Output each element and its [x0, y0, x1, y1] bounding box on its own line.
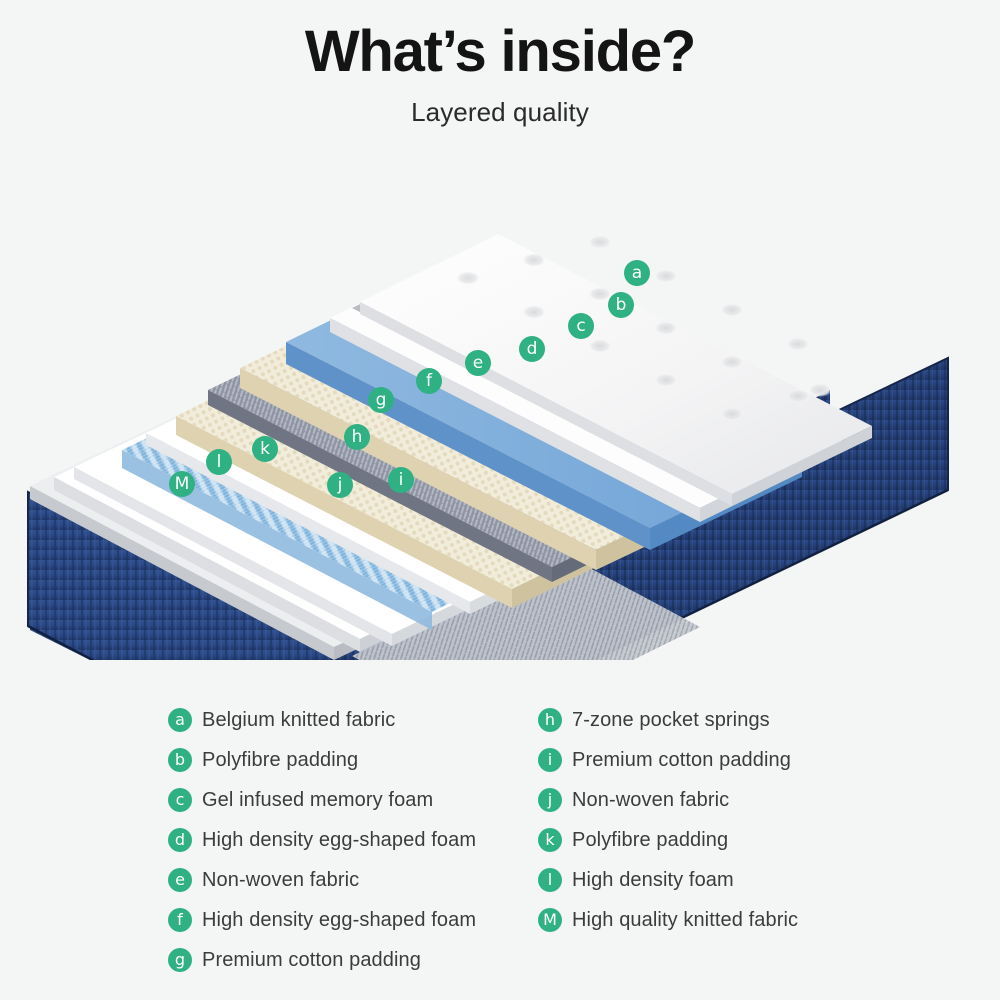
diagram-marker-k[interactable]: k: [252, 436, 278, 462]
diagram-marker-g[interactable]: g: [368, 387, 394, 413]
legend-badge-e: e: [168, 868, 192, 892]
legend-badge-c: c: [168, 788, 192, 812]
legend-item-M[interactable]: MHigh quality knitted fabric: [538, 900, 938, 940]
legend-label-i: Premium cotton padding: [572, 749, 791, 772]
legend-item-j[interactable]: jNon-woven fabric: [538, 780, 938, 820]
legend-label-M: High quality knitted fabric: [572, 909, 798, 932]
legend-label-g: Premium cotton padding: [202, 949, 421, 972]
legend-item-k[interactable]: kPolyfibre padding: [538, 820, 938, 860]
diagram-marker-M[interactable]: M: [169, 471, 195, 497]
legend-column-left: aBelgium knitted fabricbPolyfibre paddin…: [168, 700, 528, 980]
legend-label-f: High density egg-shaped foam: [202, 909, 476, 932]
diagram-marker-e[interactable]: e: [465, 350, 491, 376]
legend-badge-a: a: [168, 708, 192, 732]
diagram-marker-i[interactable]: i: [388, 467, 414, 493]
mattress-cutaway-illustration: abcdefghijklM: [0, 190, 1000, 660]
legend-badge-k: k: [538, 828, 562, 852]
legend-label-b: Polyfibre padding: [202, 749, 358, 772]
legend-item-e[interactable]: eNon-woven fabric: [168, 860, 528, 900]
legend-item-h[interactable]: h7-zone pocket springs: [538, 700, 938, 740]
legend-badge-i: i: [538, 748, 562, 772]
legend-badge-l: l: [538, 868, 562, 892]
legend-item-g[interactable]: gPremium cotton padding: [168, 940, 528, 980]
legend-badge-f: f: [168, 908, 192, 932]
legend-item-f[interactable]: fHigh density egg-shaped foam: [168, 900, 528, 940]
diagram-marker-b[interactable]: b: [608, 292, 634, 318]
legend-label-h: 7-zone pocket springs: [572, 709, 770, 732]
diagram-marker-c[interactable]: c: [568, 313, 594, 339]
diagram-marker-f[interactable]: f: [416, 368, 442, 394]
legend-badge-g: g: [168, 948, 192, 972]
legend-label-a: Belgium knitted fabric: [202, 709, 395, 732]
legend-column-right: h7-zone pocket springsiPremium cotton pa…: [538, 700, 938, 940]
legend-badge-b: b: [168, 748, 192, 772]
legend-item-d[interactable]: dHigh density egg-shaped foam: [168, 820, 528, 860]
diagram-marker-a[interactable]: a: [624, 260, 650, 286]
diagram-marker-j[interactable]: j: [327, 472, 353, 498]
legend-label-k: Polyfibre padding: [572, 829, 728, 852]
legend-label-j: Non-woven fabric: [572, 789, 729, 812]
legend-item-a[interactable]: aBelgium knitted fabric: [168, 700, 528, 740]
legend-label-d: High density egg-shaped foam: [202, 829, 476, 852]
page-title: What’s inside?: [0, 22, 1000, 83]
legend-badge-M: M: [538, 908, 562, 932]
legend-item-l[interactable]: lHigh density foam: [538, 860, 938, 900]
diagram-marker-h[interactable]: h: [344, 424, 370, 450]
legend-label-e: Non-woven fabric: [202, 869, 359, 892]
page-root: What’s inside? Layered quality: [0, 0, 1000, 1000]
legend-badge-d: d: [168, 828, 192, 852]
legend-item-b[interactable]: bPolyfibre padding: [168, 740, 528, 780]
header: What’s inside? Layered quality: [0, 22, 1000, 128]
legend: aBelgium knitted fabricbPolyfibre paddin…: [0, 700, 1000, 960]
legend-label-c: Gel infused memory foam: [202, 789, 433, 812]
legend-item-c[interactable]: cGel infused memory foam: [168, 780, 528, 820]
diagram-marker-d[interactable]: d: [519, 336, 545, 362]
legend-badge-h: h: [538, 708, 562, 732]
legend-badge-j: j: [538, 788, 562, 812]
legend-item-i[interactable]: iPremium cotton padding: [538, 740, 938, 780]
legend-label-l: High density foam: [572, 869, 734, 892]
diagram-marker-l[interactable]: l: [206, 449, 232, 475]
mattress-diagram-svg: [0, 190, 1000, 660]
page-subtitle: Layered quality: [0, 97, 1000, 128]
